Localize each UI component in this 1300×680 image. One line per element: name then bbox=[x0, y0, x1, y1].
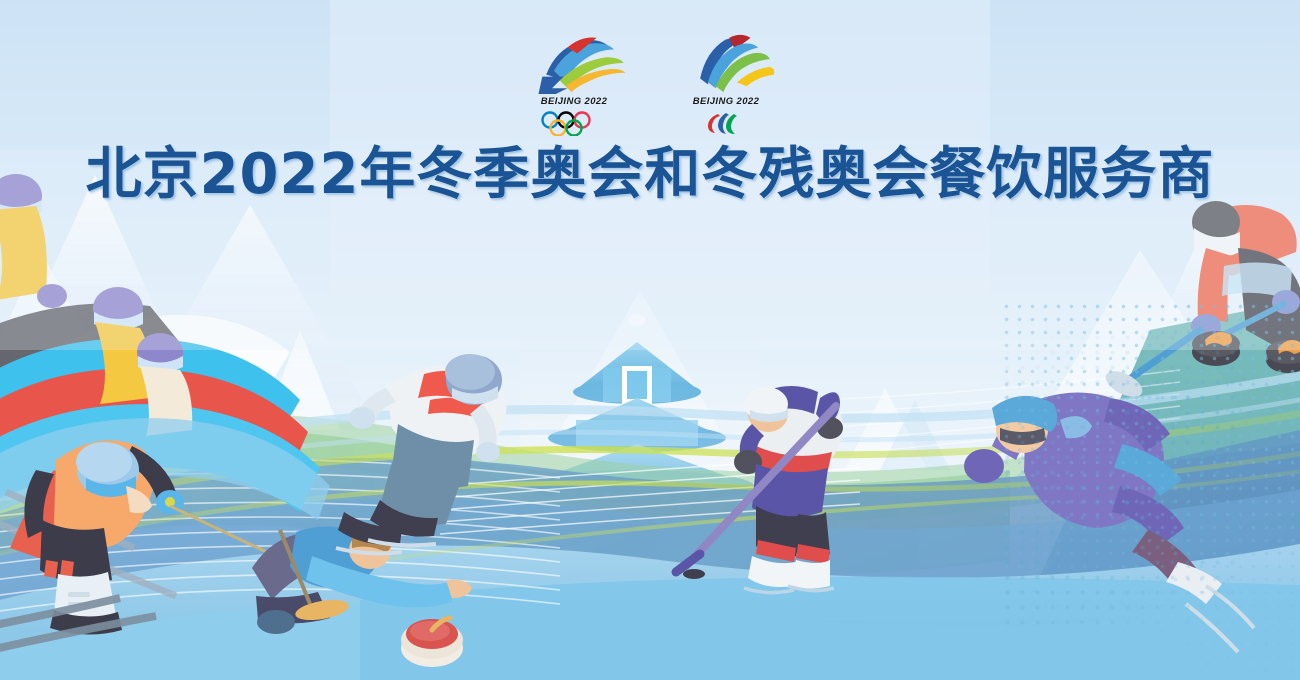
olympic-emblem[interactable]: BEIJING 2022 bbox=[526, 32, 622, 136]
paralympic-wordmark: BEIJING 2022 bbox=[693, 96, 760, 107]
beijing-2022-banner: BEIJING 2022 BEIJING 2022 bbox=[0, 0, 1300, 680]
hockey-puck bbox=[683, 569, 705, 579]
agitos-icon bbox=[688, 110, 764, 136]
paralympic-emblem[interactable]: BEIJING 2022 bbox=[678, 32, 774, 136]
olympic-wordmark: BEIJING 2022 bbox=[541, 96, 608, 107]
paralympic-emblem-mark bbox=[673, 32, 780, 94]
olympic-rings-icon bbox=[536, 110, 612, 136]
page-title: 北京2022年冬季奥会和冬残奥会餐饮服务商 bbox=[0, 146, 1300, 205]
olympic-emblem-mark bbox=[521, 32, 628, 94]
emblem-row: BEIJING 2022 BEIJING 2022 bbox=[0, 32, 1300, 136]
